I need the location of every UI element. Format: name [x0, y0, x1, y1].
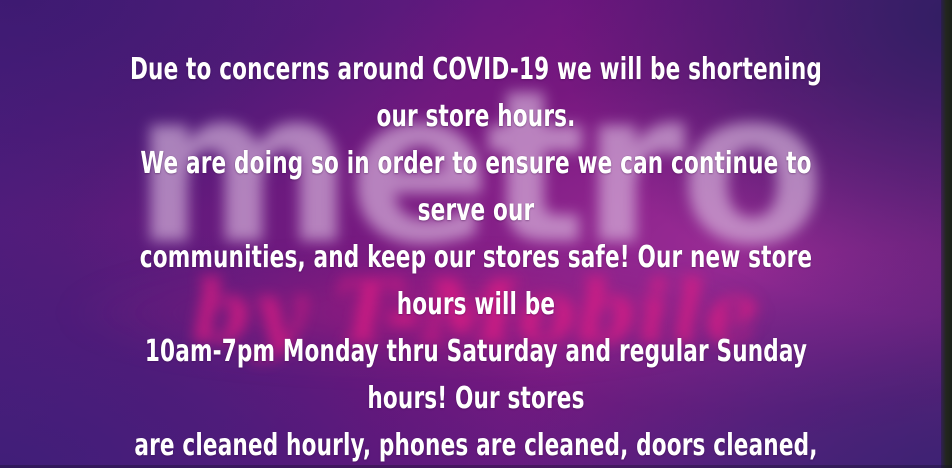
- right-edge-strip: [941, 0, 952, 468]
- announcement-text: Due to concerns around COVID-19 we will …: [95, 0, 857, 468]
- store-hours-banner: metro by T-Mobile Due to concerns around…: [0, 0, 952, 468]
